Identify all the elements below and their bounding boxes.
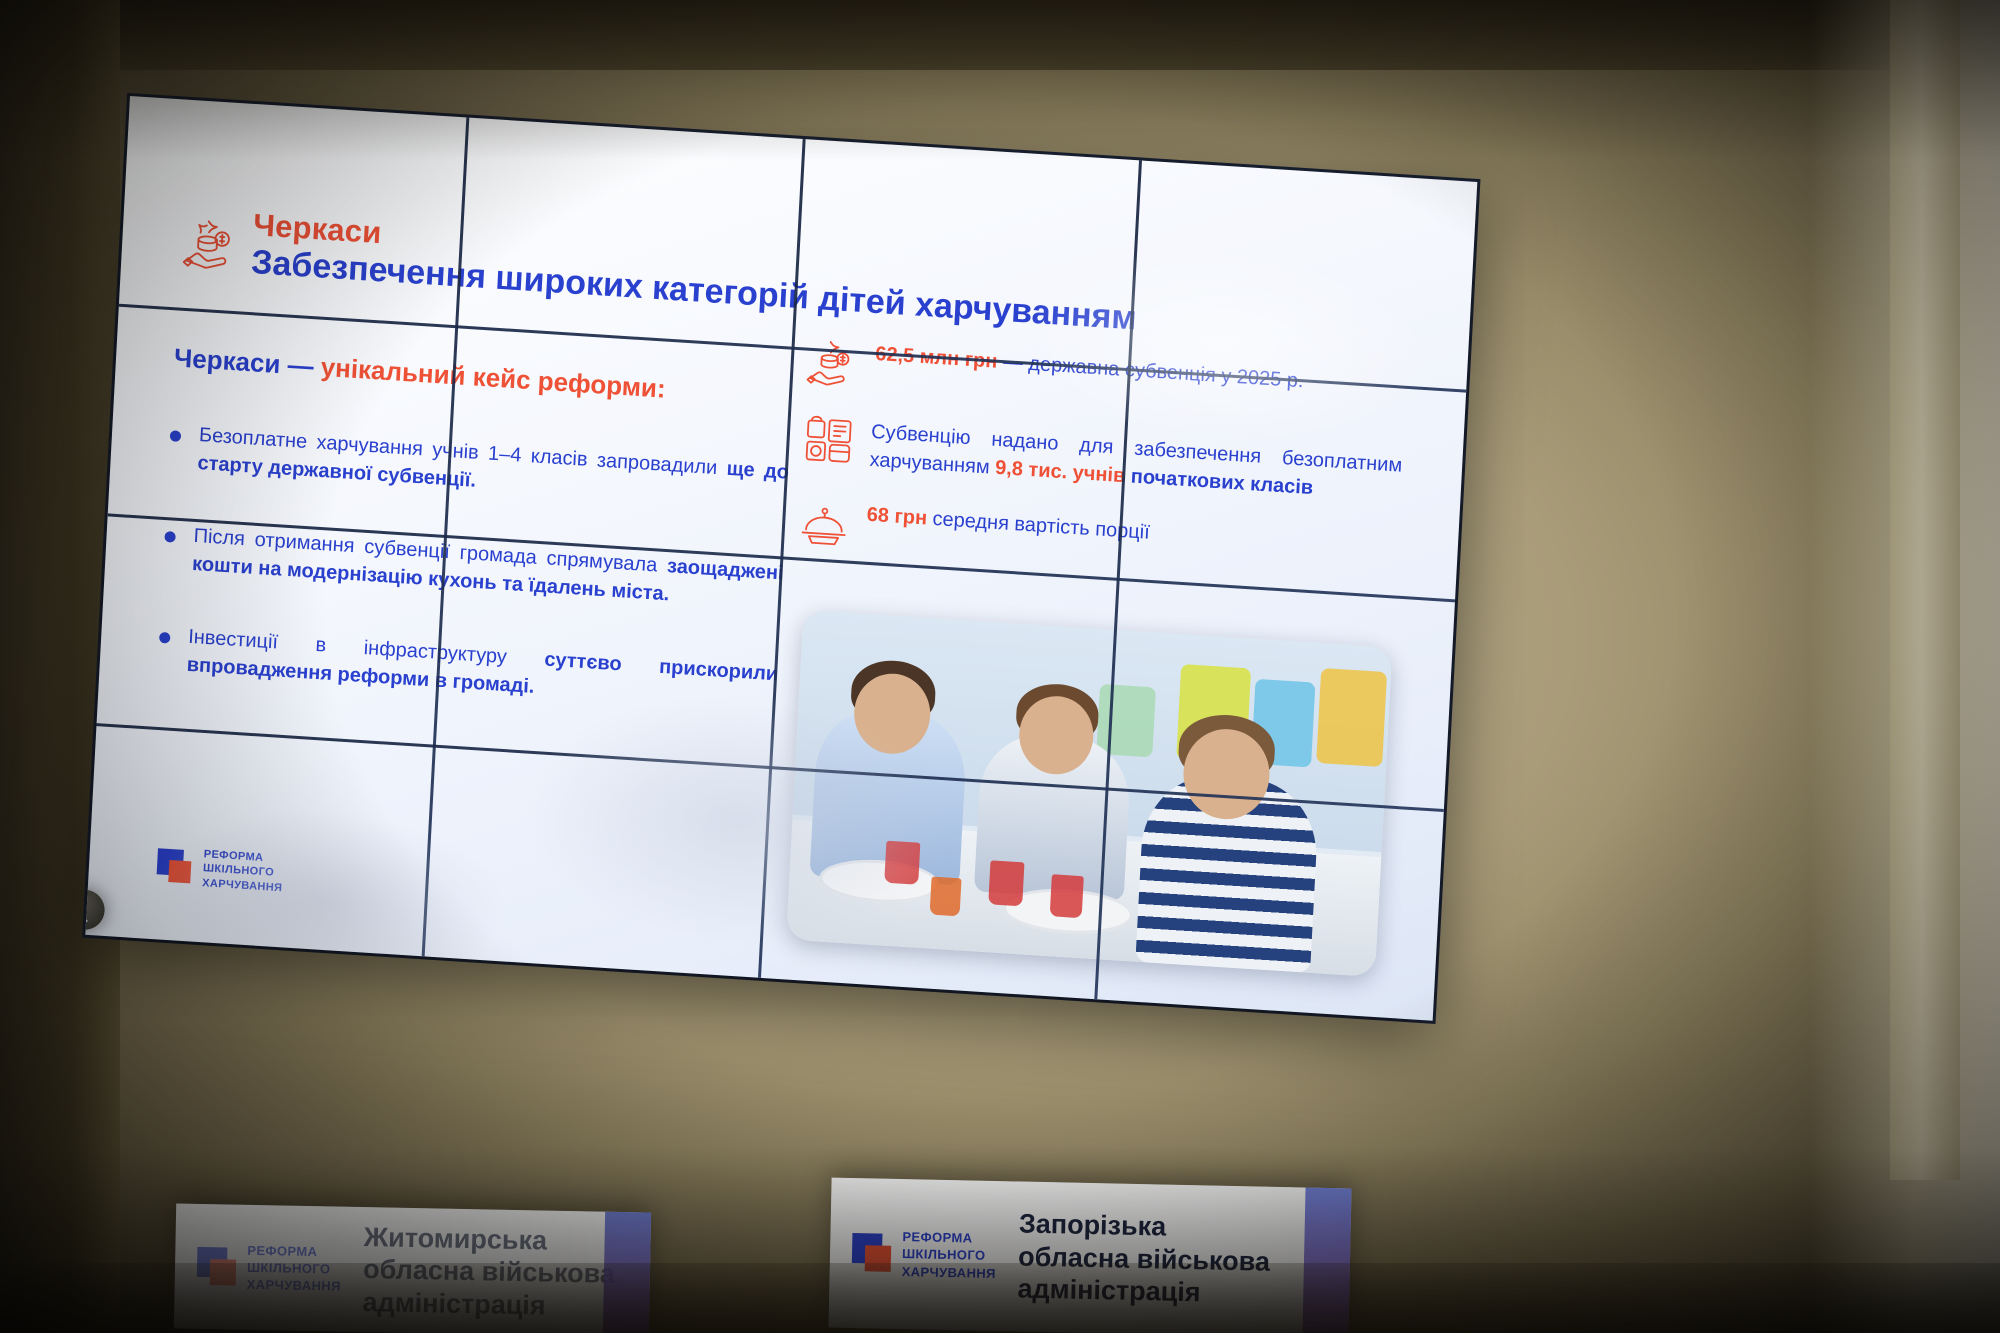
- wall-column: [1890, 0, 1960, 1180]
- photo-cup: [930, 877, 962, 917]
- bullet-dot-icon: [164, 531, 176, 543]
- slide-header: Черкаси Забезпечення широких категорій д…: [180, 205, 1431, 356]
- hand-with-coins-icon: [805, 336, 860, 391]
- slide-logo-text: РЕФОРМА ШКІЛЬНОГО ХАРЧУВАННЯ: [202, 847, 284, 895]
- wall-top-shadow: [0, 0, 2000, 70]
- photo-chair: [1316, 668, 1387, 767]
- photo-scene: [786, 610, 1392, 977]
- hand-with-coins-icon: [181, 211, 238, 276]
- logo-line-1: РЕФОРМА: [247, 1242, 342, 1261]
- lead-highlight: унікальний кейс реформи:: [320, 352, 666, 404]
- bullet-dot-icon: [159, 632, 171, 644]
- bullet-dot-icon: [170, 430, 182, 442]
- video-wall-display[interactable]: Черкаси Забезпечення широких категорій д…: [85, 96, 1477, 1021]
- laser-pointer-icon[interactable]: [85, 888, 105, 930]
- bullet-text: Інвестиції в інфраструктуру суттєво прис…: [186, 622, 779, 716]
- lead-prefix: Черкаси —: [173, 342, 321, 381]
- photo-chair: [1096, 684, 1156, 757]
- bullet-text: Після отримання субвенції громада спряму…: [191, 522, 784, 616]
- stats-column: 62,5 млн грн — державна субвенція у 2025…: [796, 336, 1408, 613]
- photo-cup: [988, 860, 1024, 906]
- stat-text: Субвенцію надано для забезпечення безопл…: [869, 418, 1403, 509]
- stat-text: 68 грн середня вартість порції: [866, 501, 1398, 563]
- list-item: Безоплатне харчування учнів 1–4 класів з…: [168, 419, 790, 515]
- list-item: Інвестиції в інфраструктуру суттєво прис…: [157, 621, 779, 717]
- stat-value: 9,8 тис. учнів: [995, 457, 1126, 487]
- logo-line-2: ШКІЛЬНОГО: [902, 1245, 997, 1264]
- bullet-text: Безоплатне харчування учнів 1–4 класів з…: [197, 421, 790, 515]
- photo-cup: [1050, 874, 1084, 918]
- stat-row-pupils: Субвенцію надано для забезпечення безопл…: [801, 414, 1403, 509]
- stat-row-portion-price: 68 грн середня вартість порції: [797, 496, 1399, 586]
- floor-shadow: [0, 1263, 2000, 1333]
- org-line-1: Запорізька: [1019, 1208, 1271, 1246]
- conference-room-scene: Черкаси Забезпечення широких категорій д…: [0, 0, 2000, 1333]
- stat-label: середня вартість порції: [927, 507, 1151, 543]
- food-tray-icon: [801, 414, 856, 469]
- video-wall-screen: Черкаси Забезпечення широких категорій д…: [85, 96, 1477, 1021]
- stat-label-tail: початкових класів: [1130, 466, 1313, 500]
- slide-photo-cafeteria: [786, 610, 1392, 977]
- bullet-list: Безоплатне харчування учнів 1–4 класів з…: [155, 419, 790, 760]
- logo-line-1: РЕФОРМА: [902, 1228, 997, 1247]
- org-line-1: Житомирська: [364, 1221, 616, 1258]
- reform-logo-mark-icon: [156, 849, 192, 885]
- serving-dish-icon: [797, 496, 852, 551]
- stat-value: 68 грн: [866, 504, 927, 530]
- slide-footer-logo: РЕФОРМА ШКІЛЬНОГО ХАРЧУВАННЯ: [156, 844, 284, 895]
- lead-line: Черкаси — унікальний кейс реформи:: [173, 342, 666, 404]
- photo-cup: [884, 841, 920, 885]
- list-item: Після отримання субвенції громада спряму…: [162, 520, 784, 616]
